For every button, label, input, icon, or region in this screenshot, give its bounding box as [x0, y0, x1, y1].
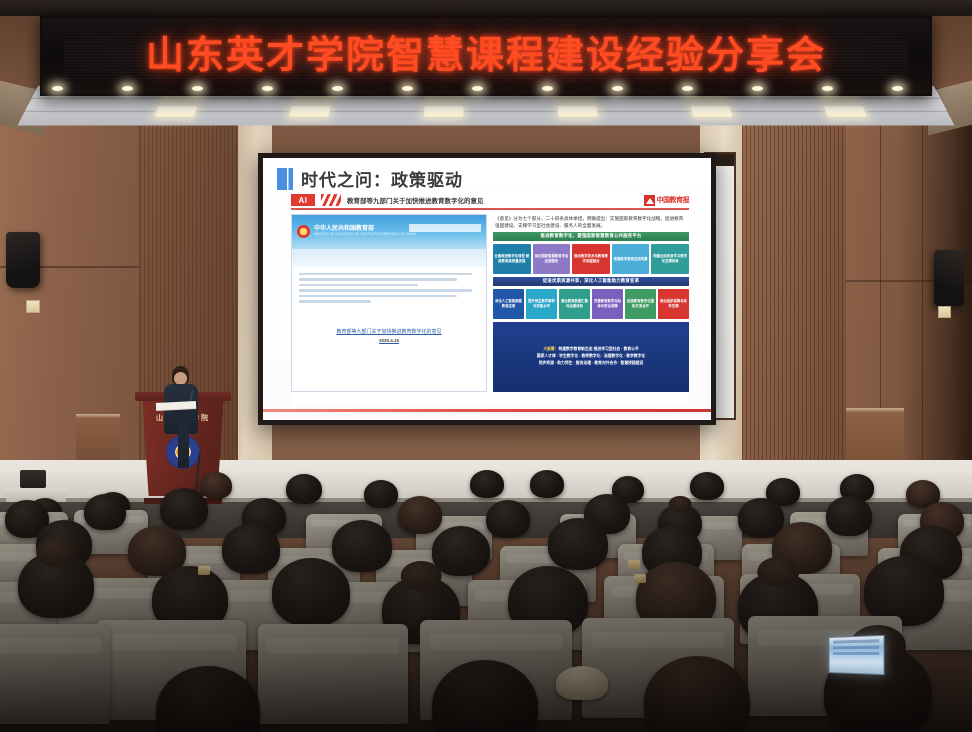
slide-title-row: 时代之问：政策驱动: [277, 166, 697, 191]
measure-box: 加强教育数字化国际交流合作: [625, 289, 656, 319]
footer-line: 国家人才库 · 学生数字化 · 教师数字化 · 治理数字化 · 教学数字化: [497, 354, 685, 359]
wall-speaker-right-icon: [934, 250, 964, 306]
open-laptop-icon: [829, 635, 885, 675]
document-body: 中华人民共和国教育部 MINISTRY OF EDUCATION OF THE …: [291, 214, 689, 392]
measure-row-2: 深化人工智能赋能教育应用 提升师生数字素养与技能水平 健全教育数据汇聚与治理体系…: [493, 289, 689, 319]
gov-website-screenshot: 中华人民共和国教育部 MINISTRY OF EDUCATION OF THE …: [291, 214, 487, 392]
bench-right: [846, 408, 904, 460]
measure-box: 深化国家智慧教育平台 应用服务: [533, 244, 571, 274]
presenter-speaker: [160, 366, 202, 462]
measure-box: 拓展数字教育应用场景: [612, 244, 650, 274]
ceiling-spotlight-row: [44, 86, 928, 96]
gov-site-nav: [292, 249, 486, 267]
light-switch-right[interactable]: [938, 306, 951, 318]
gov-site-name: 中华人民共和国教育部 MINISTRY OF EDUCATION OF THE …: [314, 226, 416, 237]
slide-bottom-rule: [263, 409, 711, 412]
badge-slashes-icon: [321, 194, 341, 206]
right-slatted-wall: [742, 96, 846, 506]
gov-search-bar[interactable]: [409, 224, 481, 232]
audience-area: [0, 470, 972, 732]
slide-title: 时代之问：政策驱动: [301, 166, 463, 191]
projection-screen-frame: 时代之问：政策驱动 AI 教育部等九部门关于加快推进教育数字化的意见 中国教育报: [258, 153, 716, 425]
led-banner-housing: 山东英才学院智慧课程建设经验分享会: [40, 16, 932, 96]
measure-box: 健全教育数据汇聚与治理体系: [559, 289, 590, 319]
gov-article-date: 2025.4.15: [292, 338, 486, 343]
audience-vignette: [0, 470, 972, 732]
presentation-slide: 时代之问：政策驱动 AI 教育部等九部门关于加快推进教育数字化的意见 中国教育报: [263, 158, 711, 420]
measure-box: 提升师生数字素养与技能水平: [526, 289, 557, 319]
led-banner-screen: 山东英才学院智慧课程建设经验分享会: [64, 30, 908, 82]
slide-lead-text: 《意见》分为七个部分，二十四条具体举措，明确提出：实施国家教育数字化战略，促进教…: [493, 214, 689, 229]
ai-badge: AI: [291, 194, 315, 206]
led-banner-text: 山东英才学院智慧课程建设经验分享会: [146, 37, 826, 75]
bench-left: [76, 414, 120, 460]
measure-box: 推动数字技术与教育教学深度融合: [572, 244, 610, 274]
section-bar-1: 推进教育数字化，建强国家智慧教育公共服务平台: [493, 232, 689, 241]
document-divider: [291, 208, 689, 210]
publisher-mark-icon: [644, 195, 655, 206]
measure-box: 深化人工智能赋能教育应用: [493, 289, 524, 319]
auditorium-photo: 山东英才学院智慧课程建设经验分享会 时代之问：政策驱动 A: [0, 0, 972, 732]
gov-article-lines: [292, 267, 486, 312]
measure-box: 全面推进数字化转型 赋能教育高质量发展: [493, 244, 531, 274]
footer-line: 大部署：构建数字教育新生态 推进学习型社会 · 教育公平: [497, 347, 685, 352]
measure-box: 强化组织保障与条件支撑: [658, 289, 689, 319]
title-accent-mark: [277, 168, 293, 190]
national-emblem-icon: [297, 225, 310, 238]
measure-row-1: 全面推进数字化转型 赋能教育高质量发展 深化国家智慧教育平台 应用服务 推动数字…: [493, 244, 689, 274]
section-bar-2: 促进优质资源共享，深化人工智能助力教育变革: [493, 277, 689, 286]
projection-screen: 时代之问：政策驱动 AI 教育部等九部门关于加快推进教育数字化的意见 中国教育报: [263, 158, 711, 420]
gov-site-header: 中华人民共和国教育部 MINISTRY OF EDUCATION OF THE …: [292, 215, 486, 249]
light-switch-left[interactable]: [26, 300, 40, 313]
measure-box: 完善教育数字化标准与安全保障: [592, 289, 623, 319]
footer-line: 同步资源 · 助力师生 · 服务治理 · 教育对外合作 · 智慧校园建设: [497, 361, 685, 366]
document-header-title: 教育部等九部门关于加快推进教育数字化的意见: [347, 195, 638, 205]
slide-footer-block: 大部署：构建数字教育新生态 推进学习型社会 · 教育公平 国家人才库 · 学生数…: [493, 322, 689, 392]
publisher-name: 中国教育报: [657, 195, 690, 205]
wall-speaker-left-icon: [6, 232, 40, 288]
publisher-logo: 中国教育报: [644, 195, 690, 206]
document-header: AI 教育部等九部门关于加快推进教育数字化的意见 中国教育报: [291, 194, 689, 206]
gov-article-caption: 教育部等九部门关于加快推进教育数字化的意见 2025.4.15: [292, 328, 486, 343]
slide-document-card: AI 教育部等九部门关于加快推进教育数字化的意见 中国教育报: [291, 194, 689, 406]
presenter-legs: [178, 426, 189, 468]
banner-top-trim: [0, 0, 972, 16]
slide-right-column: 《意见》分为七个部分，二十四条具体举措，明确提出：实施国家教育数字化战略，促进教…: [493, 214, 689, 392]
measure-box: 构建全民终身学习数字化支撑体系: [651, 244, 689, 274]
